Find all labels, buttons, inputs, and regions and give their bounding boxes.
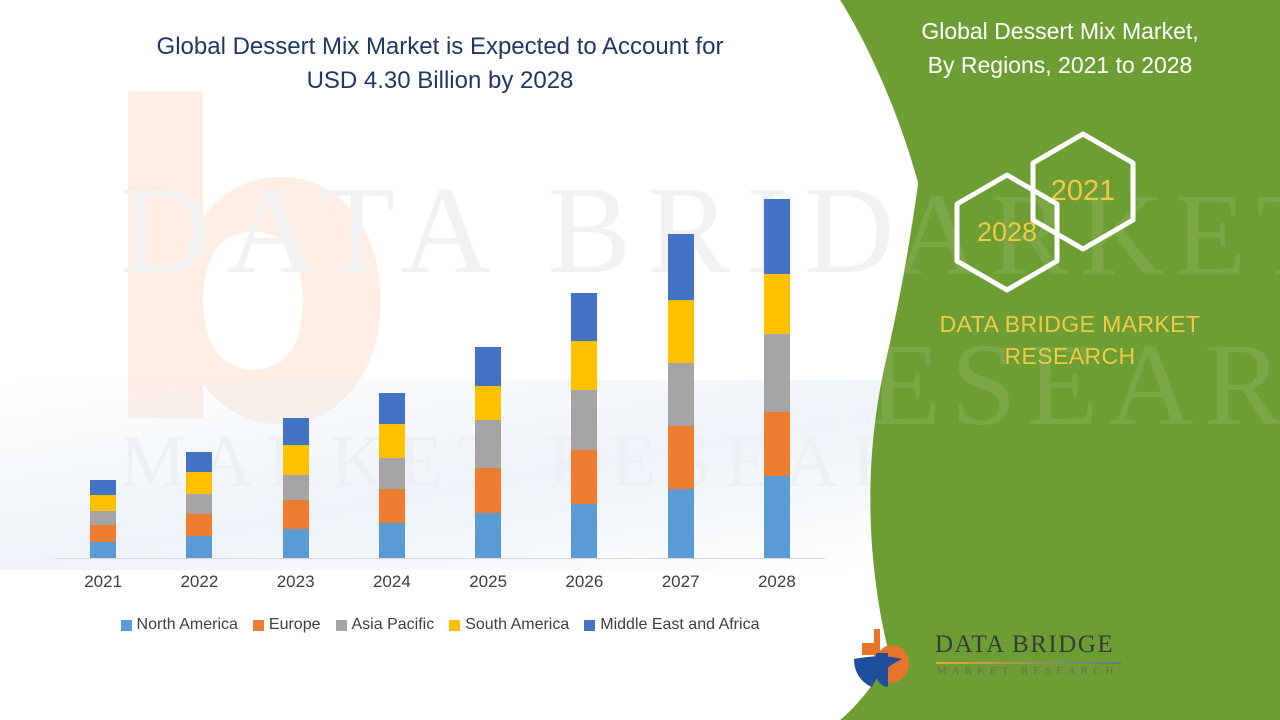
bar-segment <box>475 468 501 513</box>
legend-swatch-icon <box>336 620 347 631</box>
chart-title-line2: USD 4.30 Billion by 2028 <box>60 64 820 98</box>
bar-segment <box>283 445 309 474</box>
bar-segment <box>475 386 501 420</box>
bar-segment <box>90 542 116 558</box>
bar-segment <box>283 475 309 500</box>
legend-label: Middle East and Africa <box>600 616 759 634</box>
x-axis-label-2027: 2027 <box>646 572 716 592</box>
bar-segment <box>379 424 405 458</box>
infographic-root: b DATA BRIDGE MARKET RESEARCH Global Des… <box>0 0 1280 720</box>
bar-segment <box>475 513 501 558</box>
bar-segment <box>283 500 309 529</box>
bar-segment <box>186 452 212 472</box>
x-axis-label-2026: 2026 <box>549 572 619 592</box>
bar-segment <box>475 347 501 386</box>
bar-column-2027 <box>668 234 694 558</box>
bar-segment <box>90 495 116 511</box>
brand-name: DATA BRIDGE MARKET RESEARCH <box>880 308 1260 372</box>
bar-column-2021 <box>90 480 116 558</box>
bar-segment <box>186 494 212 514</box>
x-axis-label-2028: 2028 <box>742 572 812 592</box>
legend-item[interactable]: Asia Pacific <box>336 616 435 634</box>
legend-label: Europe <box>269 616 321 634</box>
bar-segment <box>90 511 116 525</box>
bar-column-2028 <box>764 199 790 558</box>
bar-column-2022 <box>186 452 212 558</box>
panel-title-line2: By Regions, 2021 to 2028 <box>860 48 1260 82</box>
logo-mark-icon <box>850 625 930 697</box>
bar-segment <box>90 480 116 495</box>
hexagon-2021-label: 2021 <box>1051 175 1116 207</box>
logo-name: DATA BRIDGE <box>935 631 1114 659</box>
x-axis-label-2023: 2023 <box>261 572 331 592</box>
bar-segment <box>668 489 694 558</box>
bar-column-2023 <box>283 418 309 558</box>
bar-segment <box>379 393 405 424</box>
brand-line1: DATA BRIDGE MARKET <box>880 308 1260 340</box>
hexagon-group: 2021 2028 <box>935 130 1165 295</box>
bar-segment <box>764 334 790 412</box>
x-axis-label-2021: 2021 <box>68 572 138 592</box>
x-axis-label-2025: 2025 <box>453 572 523 592</box>
bar-segment <box>186 514 212 537</box>
bar-segment <box>90 525 116 541</box>
bar-segment <box>186 536 212 558</box>
bar-segment <box>668 234 694 301</box>
bar-segment <box>668 426 694 489</box>
bar-segment <box>764 274 790 334</box>
legend-item[interactable]: North America <box>121 616 238 634</box>
bar-segment <box>379 489 405 524</box>
bar-segment <box>668 363 694 426</box>
legend-item[interactable]: Europe <box>253 616 321 634</box>
bar-segment <box>764 199 790 274</box>
bar-segment <box>571 504 597 558</box>
bar-segment <box>668 300 694 362</box>
x-axis-line <box>55 558 825 559</box>
chart-title-line1: Global Dessert Mix Market is Expected to… <box>60 30 820 64</box>
bar-segment <box>186 472 212 494</box>
x-axis-label-2022: 2022 <box>164 572 234 592</box>
panel-title-line1: Global Dessert Mix Market, <box>860 14 1260 48</box>
bar-segment <box>379 523 405 558</box>
logo-tagline: MARKET RESEARCH <box>937 665 1118 677</box>
bar-segment <box>283 418 309 445</box>
logo-divider <box>936 662 1121 664</box>
panel-title: Global Dessert Mix Market, By Regions, 2… <box>860 14 1260 82</box>
legend-label: Asia Pacific <box>352 616 435 634</box>
brand-panel: MARKET RESEARCH Global Dessert Mix Marke… <box>840 0 1280 720</box>
bar-segment <box>475 420 501 468</box>
legend-swatch-icon <box>253 620 264 631</box>
chart-plot-area <box>55 150 825 559</box>
bar-segment <box>571 450 597 505</box>
bar-segment <box>764 412 790 475</box>
bar-segment <box>571 341 597 390</box>
x-axis-label-2024: 2024 <box>357 572 427 592</box>
legend-swatch-icon <box>584 620 595 631</box>
x-axis-labels: 20212022202320242025202620272028 <box>55 572 825 602</box>
bar-segment <box>764 476 790 558</box>
brand-line2: RESEARCH <box>880 340 1260 372</box>
chart-title: Global Dessert Mix Market is Expected to… <box>60 30 820 98</box>
legend-label: South America <box>465 616 569 634</box>
chart-legend: North AmericaEuropeAsia PacificSouth Ame… <box>55 616 825 634</box>
bar-segment <box>379 458 405 488</box>
legend-item[interactable]: Middle East and Africa <box>584 616 759 634</box>
company-logo: DATA BRIDGE MARKET RESEARCH <box>850 625 1130 697</box>
legend-swatch-icon <box>449 620 460 631</box>
legend-label: North America <box>137 616 238 634</box>
bar-column-2025 <box>475 347 501 558</box>
bar-segment <box>571 293 597 342</box>
bar-column-2024 <box>379 393 405 558</box>
bar-column-2026 <box>571 293 597 558</box>
hexagon-2028-label: 2028 <box>977 217 1037 247</box>
legend-item[interactable]: South America <box>449 616 569 634</box>
bar-segment <box>283 529 309 558</box>
legend-swatch-icon <box>121 620 132 631</box>
bar-segment <box>571 390 597 450</box>
